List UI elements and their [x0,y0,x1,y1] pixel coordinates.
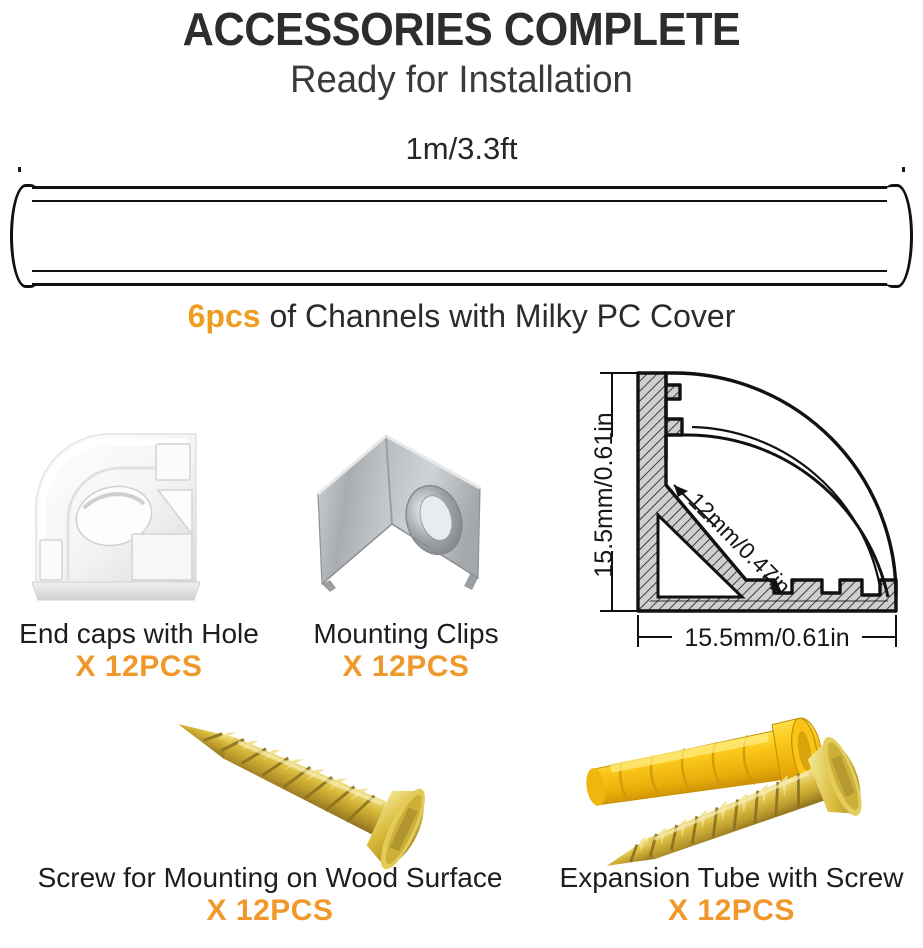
page-subtitle: Ready for Installation [18,59,904,102]
item-label-wood-screw: Screw for Mounting on Wood Surface [0,862,540,893]
infographic-page: ACCESSORIES COMPLETE Ready for Installat… [0,0,923,948]
item-end-caps: End caps with Hole X 12PCS [0,618,280,685]
item-label-mounting-clips: Mounting Clips [276,618,536,649]
item-wood-screw: Screw for Mounting on Wood Surface X 12P… [0,862,540,929]
item-qty-wood-screw: X 12PCS [0,893,540,929]
channel-count: 6pcs [188,298,261,334]
end-cap-corner-icon [28,430,228,610]
channel-edge-top [32,200,892,202]
profile-outline [638,373,896,651]
channel-edge-bottom [32,270,892,272]
mounting-clip-icon [310,428,510,610]
channel-caption-text: of Channels with Milky PC Cover [261,298,736,334]
length-dimension-line: 1m/3.3ft [18,138,905,176]
item-qty-end-caps: X 12PCS [0,649,280,685]
page-title: ACCESSORIES COMPLETE [28,2,896,56]
length-dimension-label: 1m/3.3ft [18,131,905,167]
channel-end-right [887,184,913,288]
channel-caption: 6pcs of Channels with Milky PC Cover [0,298,923,335]
height-dimension-label: 15.5mm/0.61in [590,412,618,577]
item-qty-expansion-tube: X 12PCS [540,893,923,929]
wood-screw-icon [150,718,480,858]
item-label-end-caps: End caps with Hole [0,618,280,649]
item-qty-mounting-clips: X 12PCS [276,649,536,685]
item-label-expansion-tube: Expansion Tube with Screw [540,862,923,893]
led-channel-bar [10,184,913,289]
width-dimension-label: 15.5mm/0.61in [684,624,849,652]
expansion-anchor-icon [570,690,918,858]
item-mounting-clips: Mounting Clips X 12PCS [276,618,536,685]
item-expansion-tube: Expansion Tube with Screw X 12PCS [540,862,923,929]
cross-section-diagram: 15.5mm/0.61in 15.5mm/0.61in 12mm/0.47in [596,365,918,655]
